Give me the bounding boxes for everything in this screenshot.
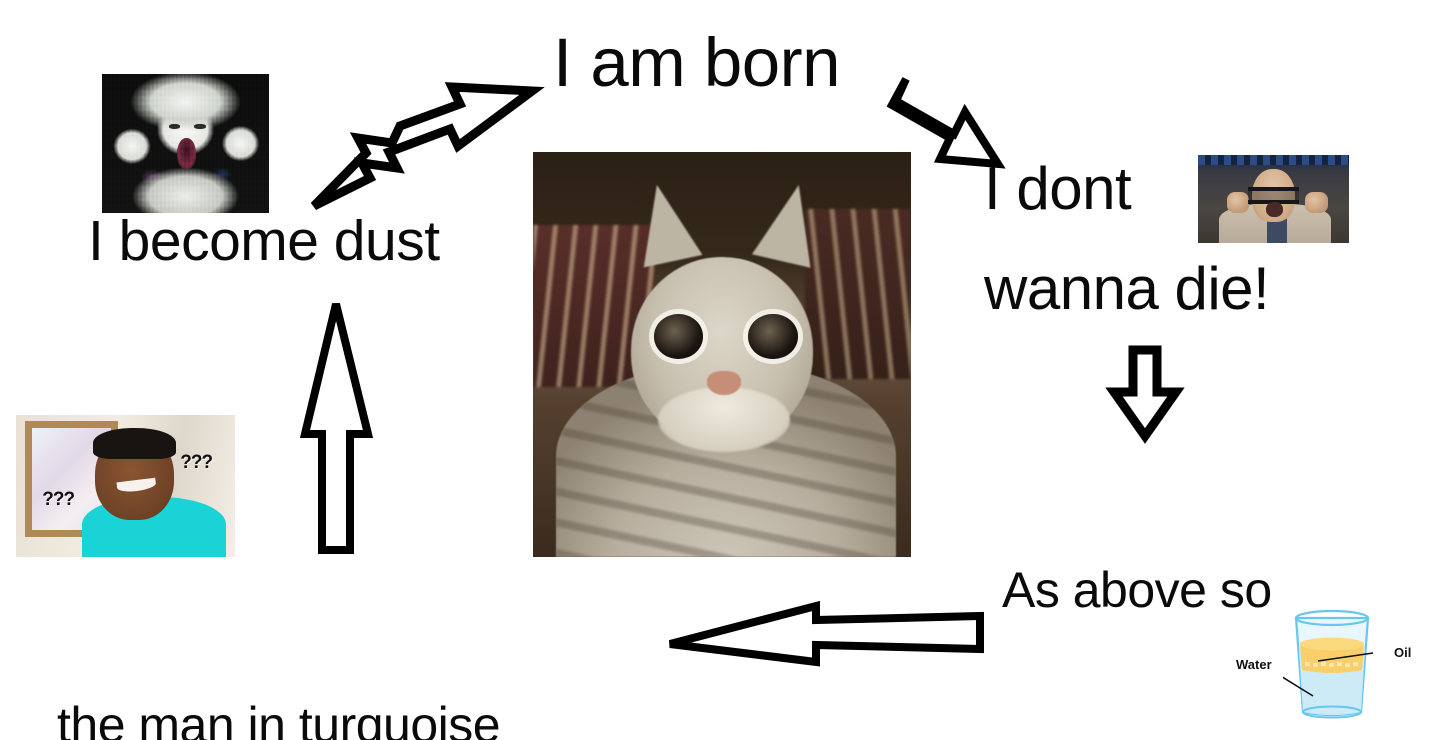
label-i-am-born: I am born bbox=[553, 28, 840, 98]
turquoise-line-1: the man in turquoise bbox=[57, 696, 508, 740]
bidirectional-arrow-shape bbox=[314, 87, 532, 206]
scientist-fist-left bbox=[1227, 192, 1250, 213]
label-man-in-turquoise: the man in turquoise asks for informatio… bbox=[57, 578, 508, 740]
scientist-background-strip bbox=[1198, 155, 1349, 165]
question-marks-lower: ??? bbox=[42, 489, 74, 511]
arrow-up-shape bbox=[305, 304, 368, 550]
cat-eye-right bbox=[748, 314, 797, 359]
image-dust-figure bbox=[102, 74, 269, 213]
question-marks-upper: ??? bbox=[180, 452, 212, 474]
label-oil: Oil bbox=[1394, 645, 1411, 660]
arrow-left-shape bbox=[670, 606, 980, 662]
arrow-down-icon bbox=[1100, 344, 1190, 444]
image-screaming-scientist bbox=[1198, 155, 1349, 243]
turquoise-man-hair bbox=[93, 428, 176, 459]
oil-surface bbox=[1300, 638, 1364, 651]
cat-eye-left bbox=[654, 314, 703, 359]
arrow-up-icon bbox=[296, 296, 376, 558]
label-i-become-dust: I become dust bbox=[88, 212, 440, 270]
bidirectional-bent-arrow-icon bbox=[300, 60, 550, 220]
label-wanna-die: wanna die! bbox=[984, 258, 1269, 319]
label-water: Water bbox=[1236, 657, 1272, 672]
scientist-fist-right bbox=[1305, 192, 1328, 213]
cat-muzzle bbox=[658, 387, 790, 452]
scientist-open-mouth bbox=[1266, 202, 1283, 217]
arrow-down-right-icon bbox=[858, 60, 1018, 180]
meme-diagram-canvas: I am born I become dust I dont wanna die… bbox=[0, 0, 1449, 740]
arrow-down-right-shape bbox=[892, 79, 998, 164]
image-glass-oil-water bbox=[1283, 604, 1381, 720]
cat-background-shelf-right bbox=[805, 209, 911, 379]
image-cat bbox=[533, 152, 911, 557]
dust-figure-noise-overlay bbox=[102, 74, 269, 213]
cat-nose bbox=[707, 371, 741, 395]
image-turquoise-man: ??? ??? bbox=[16, 415, 235, 557]
arrow-down-shape bbox=[1114, 350, 1176, 436]
arrow-left-icon bbox=[664, 596, 986, 668]
